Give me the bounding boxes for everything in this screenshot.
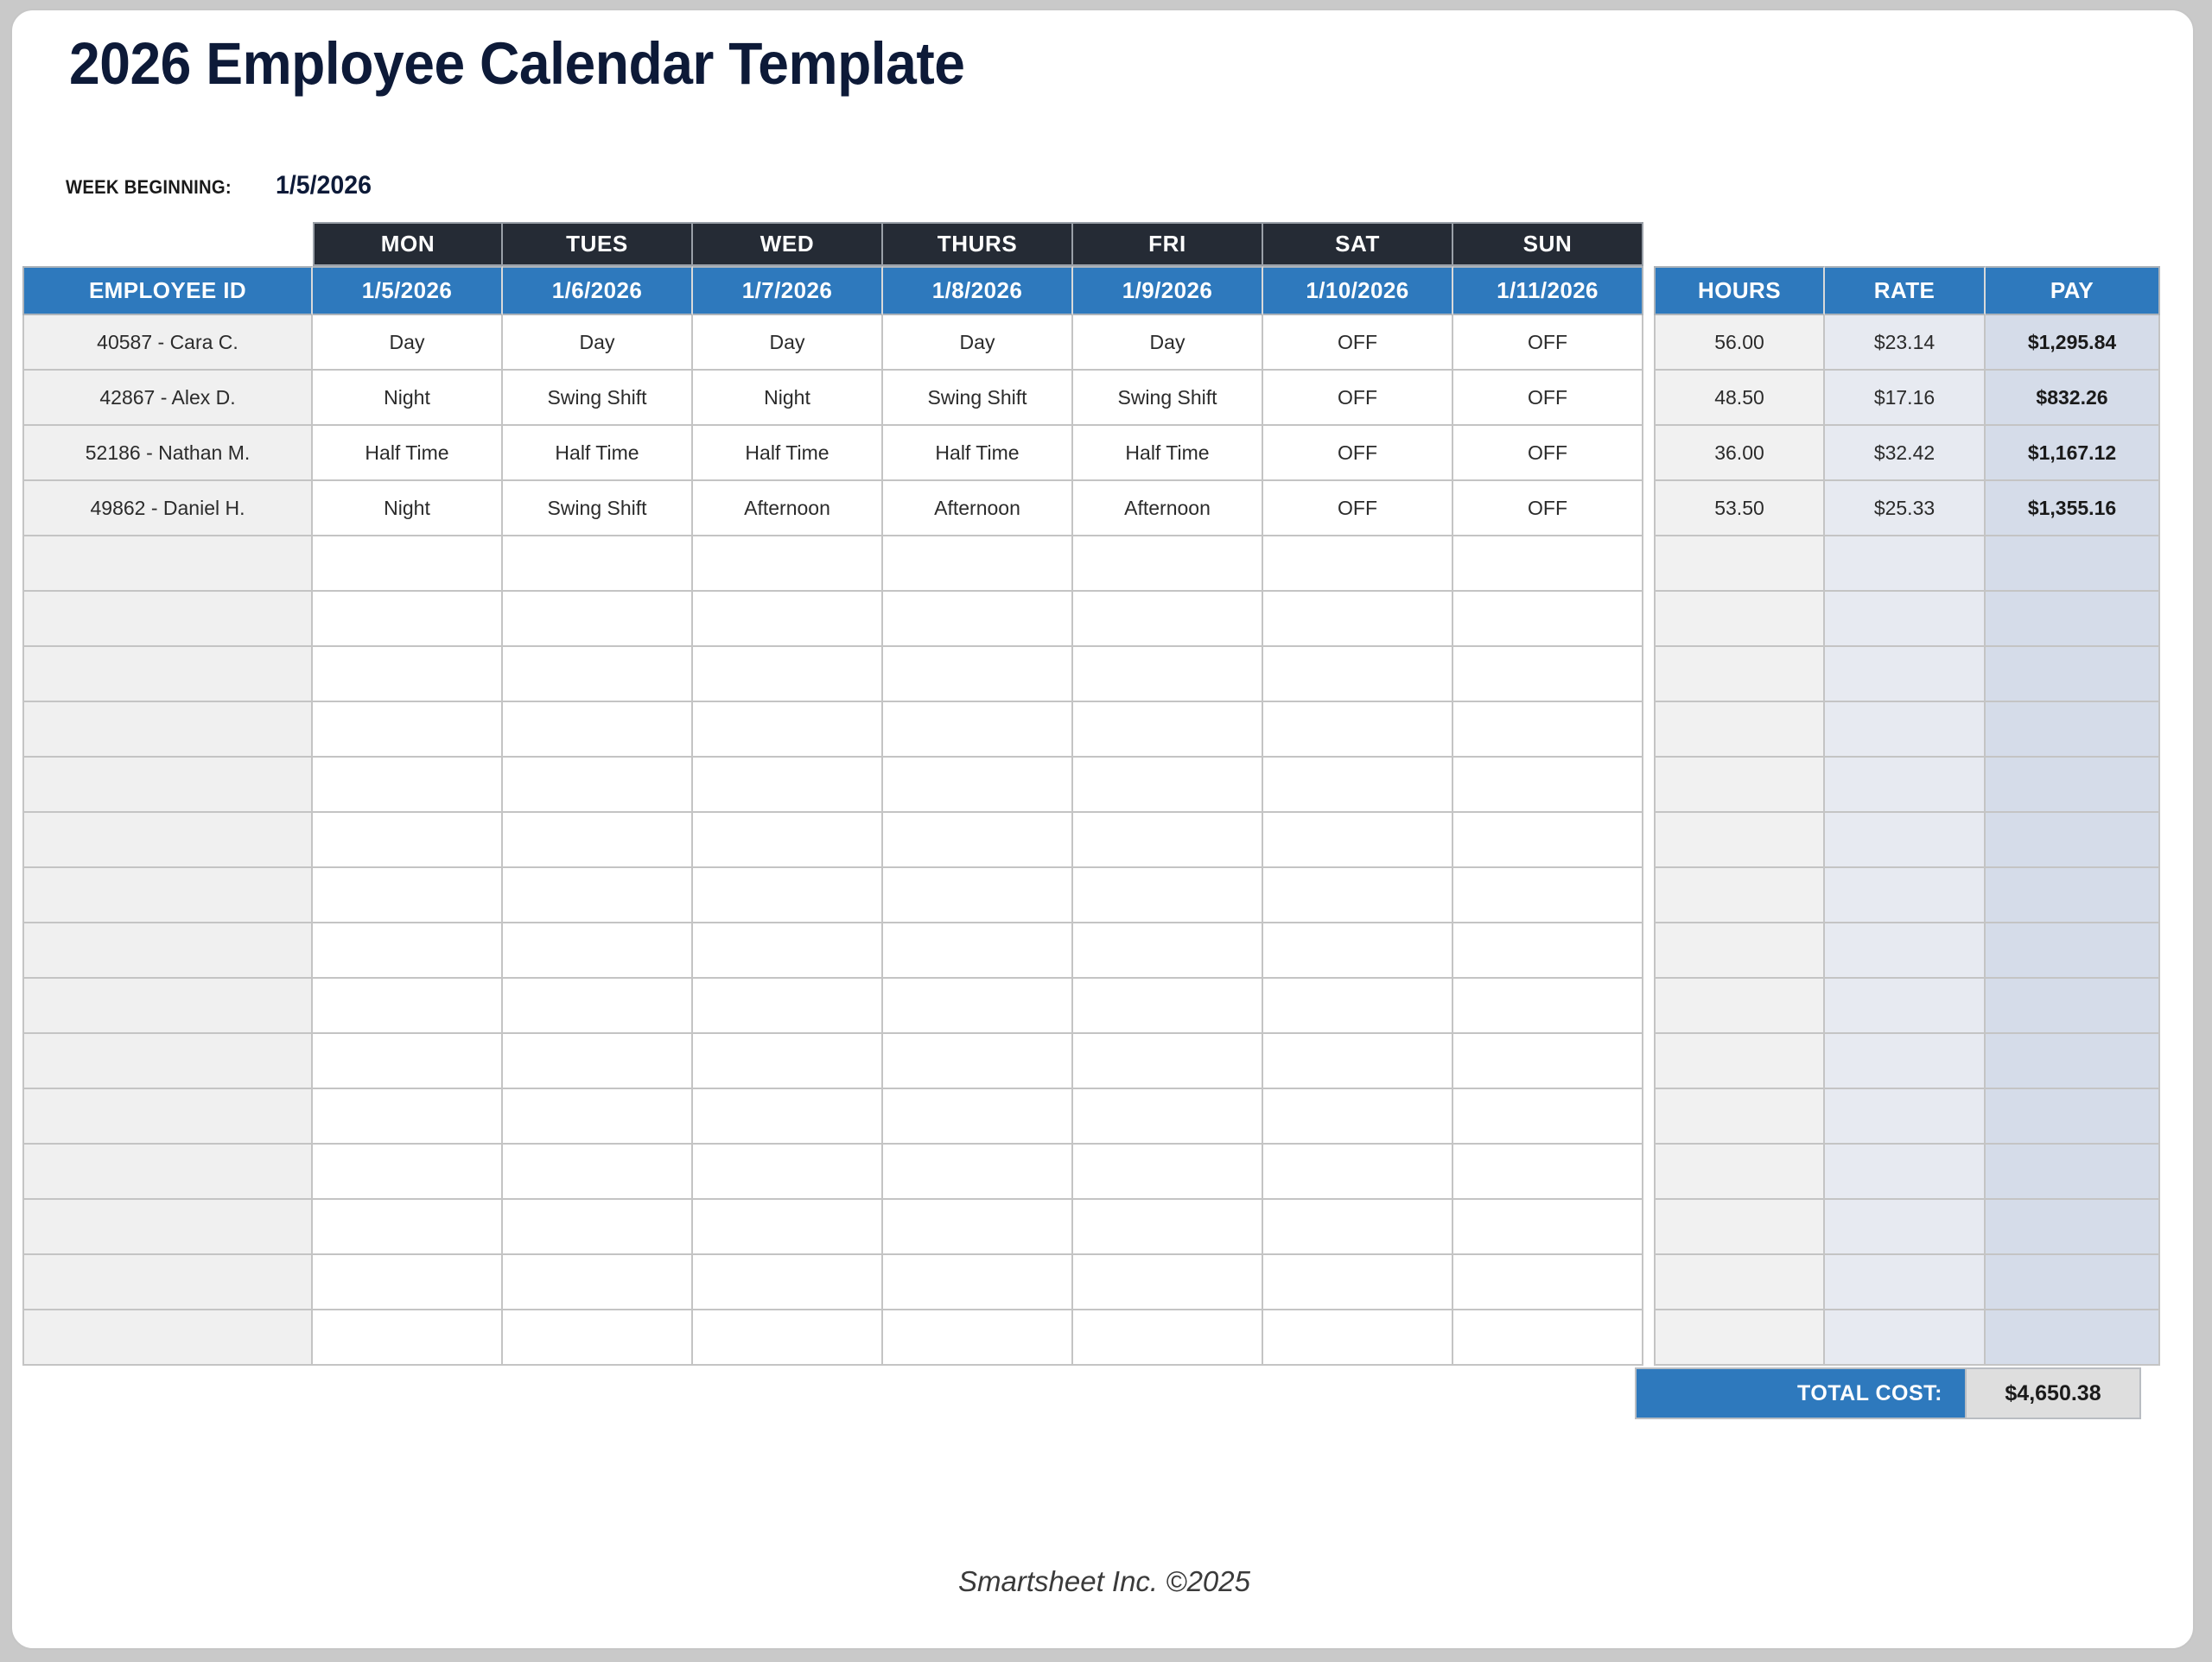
cell-shift-day-5[interactable] <box>1073 592 1263 647</box>
cell-shift-day-2[interactable] <box>503 702 693 758</box>
cell-shift-day-3[interactable]: Afternoon <box>693 481 883 536</box>
cell-shift-day-4[interactable] <box>883 1200 1073 1255</box>
cell-shift-day-1[interactable] <box>313 868 503 923</box>
cell-shift-day-5[interactable] <box>1073 1255 1263 1310</box>
cell-shift-day-5[interactable] <box>1073 1200 1263 1255</box>
cell-hours[interactable] <box>1654 592 1825 647</box>
header-date-1: 1/5/2026 <box>313 266 503 315</box>
column-header-row: EMPLOYEE ID1/5/20261/6/20261/7/20261/8/2… <box>12 266 2195 315</box>
cell-shift-day-4[interactable] <box>883 979 1073 1034</box>
cell-rate[interactable] <box>1825 868 1986 923</box>
cell-shift-day-6[interactable] <box>1263 647 1453 702</box>
cell-pay <box>1986 1089 2160 1145</box>
cell-shift-day-2[interactable]: Swing Shift <box>503 371 693 426</box>
weekday-header-mon: MON <box>313 222 503 266</box>
cell-shift-day-7[interactable] <box>1453 923 1643 979</box>
cell-shift-day-6[interactable] <box>1263 702 1453 758</box>
cell-shift-day-2[interactable]: Swing Shift <box>503 481 693 536</box>
row-left-margin <box>12 592 22 647</box>
cell-employee-id[interactable] <box>22 1310 313 1366</box>
cell-shift-day-1[interactable] <box>313 592 503 647</box>
row-column-gap <box>1643 647 1654 702</box>
cell-pay: $1,295.84 <box>1986 315 2160 371</box>
cell-shift-day-5[interactable]: Day <box>1073 315 1263 371</box>
cell-shift-day-4[interactable]: Swing Shift <box>883 371 1073 426</box>
cell-hours[interactable] <box>1654 1089 1825 1145</box>
cell-shift-day-2[interactable]: Half Time <box>503 426 693 481</box>
cell-shift-day-4[interactable] <box>883 1089 1073 1145</box>
cell-hours[interactable] <box>1654 923 1825 979</box>
cell-shift-day-7[interactable] <box>1453 647 1643 702</box>
cell-rate[interactable] <box>1825 979 1986 1034</box>
cell-shift-day-4[interactable] <box>883 813 1073 868</box>
cell-shift-day-6[interactable] <box>1263 813 1453 868</box>
cell-rate[interactable] <box>1825 923 1986 979</box>
cell-shift-day-6[interactable] <box>1263 923 1453 979</box>
row-left-margin <box>12 1310 22 1366</box>
cell-shift-day-7[interactable] <box>1453 868 1643 923</box>
cell-hours[interactable]: 53.50 <box>1654 481 1825 536</box>
cell-shift-day-2[interactable] <box>503 592 693 647</box>
cell-shift-day-7[interactable]: OFF <box>1453 426 1643 481</box>
cell-employee-id[interactable] <box>22 979 313 1034</box>
table-row <box>12 1089 2195 1145</box>
table-row <box>12 1310 2195 1366</box>
cell-shift-day-6[interactable] <box>1263 1145 1453 1200</box>
table-row <box>12 1034 2195 1089</box>
cell-shift-day-4[interactable] <box>883 702 1073 758</box>
cell-pay <box>1986 1310 2160 1366</box>
cell-pay <box>1986 923 2160 979</box>
cell-shift-day-6[interactable] <box>1263 592 1453 647</box>
table-row <box>12 1200 2195 1255</box>
table-row <box>12 868 2195 923</box>
cell-shift-day-7[interactable] <box>1453 536 1643 592</box>
row-column-gap <box>1643 426 1654 481</box>
row-column-gap <box>1643 1145 1654 1200</box>
week-beginning-value[interactable]: 1/5/2026 <box>276 171 372 200</box>
weekday-header-row: MONTUESWEDTHURSFRISATSUN <box>12 222 2195 266</box>
cell-shift-day-5[interactable]: Swing Shift <box>1073 371 1263 426</box>
table-row <box>12 536 2195 592</box>
cell-shift-day-4[interactable] <box>883 592 1073 647</box>
cell-shift-day-2[interactable] <box>503 1145 693 1200</box>
cell-shift-day-3[interactable] <box>693 1200 883 1255</box>
cell-shift-day-6[interactable]: OFF <box>1263 426 1453 481</box>
cell-shift-day-4[interactable] <box>883 868 1073 923</box>
cell-rate[interactable] <box>1825 647 1986 702</box>
header-column-gap <box>1643 266 1654 315</box>
row-left-margin <box>12 481 22 536</box>
cell-hours[interactable] <box>1654 702 1825 758</box>
weekday-header-wed: WED <box>693 222 883 266</box>
row-column-gap <box>1643 1089 1654 1145</box>
header-hours: HOURS <box>1654 266 1825 315</box>
cell-pay <box>1986 592 2160 647</box>
cell-shift-day-7[interactable]: OFF <box>1453 371 1643 426</box>
row-left-margin <box>12 1145 22 1200</box>
cell-shift-day-1[interactable] <box>313 1200 503 1255</box>
cell-shift-day-5[interactable] <box>1073 1034 1263 1089</box>
cell-shift-day-2[interactable] <box>503 1089 693 1145</box>
cell-shift-day-3[interactable] <box>693 758 883 813</box>
cell-rate[interactable] <box>1825 592 1986 647</box>
row-column-gap <box>1643 1310 1654 1366</box>
cell-shift-day-3[interactable] <box>693 1089 883 1145</box>
cell-shift-day-2[interactable] <box>503 813 693 868</box>
cell-shift-day-2[interactable] <box>503 923 693 979</box>
footer-copyright: Smartsheet Inc. ©2025 <box>12 1565 2195 1598</box>
cell-shift-day-7[interactable]: OFF <box>1453 481 1643 536</box>
row-left-margin <box>12 536 22 592</box>
cell-shift-day-2[interactable]: Day <box>503 315 693 371</box>
cell-shift-day-5[interactable] <box>1073 702 1263 758</box>
row-column-gap <box>1643 979 1654 1034</box>
cell-shift-day-4[interactable] <box>883 1310 1073 1366</box>
cell-rate[interactable] <box>1825 1255 1986 1310</box>
cell-rate[interactable] <box>1825 536 1986 592</box>
header-date-7: 1/11/2026 <box>1453 266 1643 315</box>
cell-employee-id[interactable] <box>22 1089 313 1145</box>
cell-shift-day-7[interactable] <box>1453 1310 1643 1366</box>
cell-shift-day-6[interactable] <box>1263 868 1453 923</box>
cell-pay <box>1986 758 2160 813</box>
cell-pay <box>1986 868 2160 923</box>
cell-shift-day-1[interactable] <box>313 1310 503 1366</box>
row-column-gap <box>1643 868 1654 923</box>
cell-shift-day-1[interactable] <box>313 1255 503 1310</box>
total-cost-row: TOTAL COST:$4,650.38 <box>12 1367 2195 1419</box>
row-left-margin <box>12 923 22 979</box>
cell-shift-day-5[interactable] <box>1073 1310 1263 1366</box>
weekday-header-sat: SAT <box>1263 222 1453 266</box>
cell-shift-day-6[interactable] <box>1263 1034 1453 1089</box>
row-column-gap <box>1643 315 1654 371</box>
header-date-2: 1/6/2026 <box>503 266 693 315</box>
cell-employee-id[interactable]: 42867 - Alex D. <box>22 371 313 426</box>
header-date-6: 1/10/2026 <box>1263 266 1453 315</box>
table-row: 49862 - Daniel H.NightSwing ShiftAfterno… <box>12 481 2195 536</box>
cell-shift-day-6[interactable] <box>1263 979 1453 1034</box>
cell-shift-day-2[interactable] <box>503 536 693 592</box>
cell-shift-day-5[interactable] <box>1073 536 1263 592</box>
cell-shift-day-2[interactable] <box>503 1310 693 1366</box>
cell-shift-day-7[interactable] <box>1453 758 1643 813</box>
cell-shift-day-2[interactable] <box>503 979 693 1034</box>
cell-employee-id[interactable] <box>22 536 313 592</box>
cell-shift-day-6[interactable] <box>1263 536 1453 592</box>
row-left-margin <box>12 868 22 923</box>
cell-shift-day-3[interactable] <box>693 702 883 758</box>
cell-pay <box>1986 1200 2160 1255</box>
header-left-margin <box>12 266 22 315</box>
cell-employee-id[interactable] <box>22 758 313 813</box>
cell-shift-day-4[interactable]: Half Time <box>883 426 1073 481</box>
cell-shift-day-5[interactable] <box>1073 979 1263 1034</box>
cell-shift-day-1[interactable] <box>313 813 503 868</box>
cell-shift-day-6[interactable]: OFF <box>1263 481 1453 536</box>
template-page: 2026 Employee Calendar Template WEEK BEG… <box>10 9 2195 1650</box>
cell-hours[interactable]: 56.00 <box>1654 315 1825 371</box>
cell-employee-id[interactable]: 40587 - Cara C. <box>22 315 313 371</box>
header-pay: PAY <box>1986 266 2160 315</box>
row-left-margin <box>12 813 22 868</box>
cell-hours[interactable] <box>1654 758 1825 813</box>
header-rate: RATE <box>1825 266 1986 315</box>
cell-rate[interactable] <box>1825 1089 1986 1145</box>
cell-shift-day-3[interactable] <box>693 979 883 1034</box>
cell-employee-id[interactable] <box>22 1255 313 1310</box>
row-column-gap <box>1643 536 1654 592</box>
row-column-gap <box>1643 592 1654 647</box>
cell-shift-day-5[interactable] <box>1073 758 1263 813</box>
table-row: 42867 - Alex D.NightSwing ShiftNightSwin… <box>12 371 2195 426</box>
row-left-margin <box>12 315 22 371</box>
cell-employee-id[interactable]: 52186 - Nathan M. <box>22 426 313 481</box>
cell-hours[interactable]: 36.00 <box>1654 426 1825 481</box>
cell-shift-day-6[interactable] <box>1263 758 1453 813</box>
cell-shift-day-4[interactable]: Day <box>883 315 1073 371</box>
row-left-margin <box>12 979 22 1034</box>
table-row <box>12 1255 2195 1310</box>
cell-shift-day-6[interactable] <box>1263 1255 1453 1310</box>
cell-shift-day-7[interactable] <box>1453 979 1643 1034</box>
cell-rate[interactable] <box>1825 1145 1986 1200</box>
total-cost-label: TOTAL COST: <box>1635 1367 1967 1419</box>
row-left-margin <box>12 1200 22 1255</box>
cell-shift-day-3[interactable] <box>693 536 883 592</box>
page-title: 2026 Employee Calendar Template <box>69 29 965 98</box>
table-row <box>12 592 2195 647</box>
cell-shift-day-5[interactable]: Half Time <box>1073 426 1263 481</box>
cell-rate[interactable] <box>1825 813 1986 868</box>
cell-shift-day-3[interactable] <box>693 868 883 923</box>
cell-shift-day-1[interactable] <box>313 1145 503 1200</box>
cell-shift-day-7[interactable]: OFF <box>1453 315 1643 371</box>
total-row-spacer <box>12 1367 1635 1419</box>
cell-hours[interactable]: 48.50 <box>1654 371 1825 426</box>
cell-rate[interactable] <box>1825 1200 1986 1255</box>
cell-shift-day-2[interactable] <box>503 1200 693 1255</box>
cell-rate[interactable]: $25.33 <box>1825 481 1986 536</box>
row-left-margin <box>12 371 22 426</box>
cell-shift-day-1[interactable] <box>313 647 503 702</box>
row-left-margin <box>12 1255 22 1310</box>
cell-shift-day-5[interactable] <box>1073 813 1263 868</box>
cell-rate[interactable]: $23.14 <box>1825 315 1986 371</box>
cell-shift-day-6[interactable] <box>1263 1089 1453 1145</box>
table-row <box>12 647 2195 702</box>
cell-employee-id[interactable] <box>22 923 313 979</box>
cell-shift-day-1[interactable]: Night <box>313 371 503 426</box>
cell-shift-day-4[interactable] <box>883 758 1073 813</box>
cell-shift-day-2[interactable] <box>503 1255 693 1310</box>
cell-shift-day-2[interactable] <box>503 758 693 813</box>
cell-rate[interactable]: $32.42 <box>1825 426 1986 481</box>
cell-shift-day-3[interactable]: Day <box>693 315 883 371</box>
cell-pay <box>1986 1034 2160 1089</box>
cell-shift-day-7[interactable] <box>1453 592 1643 647</box>
cell-shift-day-1[interactable]: Half Time <box>313 426 503 481</box>
cell-shift-day-2[interactable] <box>503 1034 693 1089</box>
cell-shift-day-7[interactable] <box>1453 1145 1643 1200</box>
cell-pay <box>1986 1255 2160 1310</box>
cell-shift-day-5[interactable]: Afternoon <box>1073 481 1263 536</box>
row-left-margin <box>12 702 22 758</box>
cell-shift-day-3[interactable] <box>693 1310 883 1366</box>
cell-shift-day-6[interactable]: OFF <box>1263 371 1453 426</box>
cell-shift-day-5[interactable] <box>1073 923 1263 979</box>
cell-hours[interactable] <box>1654 1145 1825 1200</box>
cell-rate[interactable]: $17.16 <box>1825 371 1986 426</box>
cell-shift-day-1[interactable] <box>313 1089 503 1145</box>
cell-shift-day-3[interactable] <box>693 592 883 647</box>
cell-shift-day-3[interactable] <box>693 1034 883 1089</box>
cell-shift-day-3[interactable] <box>693 1145 883 1200</box>
cell-shift-day-7[interactable] <box>1453 813 1643 868</box>
cell-shift-day-4[interactable] <box>883 536 1073 592</box>
cell-shift-day-4[interactable] <box>883 1145 1073 1200</box>
cell-shift-day-7[interactable] <box>1453 1200 1643 1255</box>
cell-shift-day-1[interactable]: Night <box>313 481 503 536</box>
row-column-gap <box>1643 1200 1654 1255</box>
header-employee-id: EMPLOYEE ID <box>22 266 313 315</box>
header-date-3: 1/7/2026 <box>693 266 883 315</box>
table-row <box>12 813 2195 868</box>
weekday-header-sun: SUN <box>1453 222 1643 266</box>
cell-rate[interactable] <box>1825 758 1986 813</box>
cell-employee-id[interactable] <box>22 868 313 923</box>
cell-shift-day-1[interactable]: Day <box>313 315 503 371</box>
cell-shift-day-2[interactable] <box>503 647 693 702</box>
cell-pay <box>1986 979 2160 1034</box>
row-left-margin <box>12 647 22 702</box>
weekday-header-spacer <box>12 222 313 266</box>
row-column-gap <box>1643 758 1654 813</box>
cell-employee-id[interactable]: 49862 - Daniel H. <box>22 481 313 536</box>
cell-shift-day-1[interactable] <box>313 702 503 758</box>
cell-employee-id[interactable] <box>22 647 313 702</box>
cell-employee-id[interactable] <box>22 1145 313 1200</box>
cell-pay: $1,355.16 <box>1986 481 2160 536</box>
cell-shift-day-7[interactable] <box>1453 1089 1643 1145</box>
table-row <box>12 979 2195 1034</box>
table-row <box>12 702 2195 758</box>
cell-pay <box>1986 536 2160 592</box>
row-column-gap <box>1643 371 1654 426</box>
cell-hours[interactable] <box>1654 979 1825 1034</box>
cell-shift-day-5[interactable] <box>1073 647 1263 702</box>
weekday-header-thurs: THURS <box>883 222 1073 266</box>
cell-shift-day-1[interactable] <box>313 1034 503 1089</box>
cell-employee-id[interactable] <box>22 1034 313 1089</box>
cell-shift-day-4[interactable]: Afternoon <box>883 481 1073 536</box>
cell-shift-day-6[interactable] <box>1263 1310 1453 1366</box>
row-column-gap <box>1643 1034 1654 1089</box>
cell-pay <box>1986 702 2160 758</box>
row-left-margin <box>12 426 22 481</box>
table-row <box>12 923 2195 979</box>
cell-shift-day-7[interactable] <box>1453 1034 1643 1089</box>
weekday-header-fri: FRI <box>1073 222 1263 266</box>
cell-pay <box>1986 1145 2160 1200</box>
cell-pay <box>1986 647 2160 702</box>
cell-shift-day-4[interactable] <box>883 1255 1073 1310</box>
weekday-header-tues: TUES <box>503 222 693 266</box>
cell-shift-day-7[interactable] <box>1453 702 1643 758</box>
cell-hours[interactable] <box>1654 1034 1825 1089</box>
schedule-table: MONTUESWEDTHURSFRISATSUNEMPLOYEE ID1/5/2… <box>12 222 2195 1419</box>
row-column-gap <box>1643 813 1654 868</box>
header-date-5: 1/9/2026 <box>1073 266 1263 315</box>
cell-shift-day-1[interactable] <box>313 536 503 592</box>
row-left-margin <box>12 1089 22 1145</box>
cell-shift-day-5[interactable] <box>1073 1145 1263 1200</box>
cell-shift-day-3[interactable] <box>693 813 883 868</box>
cell-hours[interactable] <box>1654 647 1825 702</box>
cell-shift-day-5[interactable] <box>1073 868 1263 923</box>
cell-shift-day-6[interactable] <box>1263 1200 1453 1255</box>
cell-hours[interactable] <box>1654 1255 1825 1310</box>
cell-employee-id[interactable] <box>22 813 313 868</box>
table-row <box>12 758 2195 813</box>
cell-rate[interactable] <box>1825 1310 1986 1366</box>
cell-pay <box>1986 813 2160 868</box>
cell-hours[interactable] <box>1654 813 1825 868</box>
cell-shift-day-3[interactable] <box>693 1255 883 1310</box>
cell-shift-day-4[interactable] <box>883 923 1073 979</box>
row-column-gap <box>1643 702 1654 758</box>
row-left-margin <box>12 758 22 813</box>
cell-shift-day-3[interactable]: Night <box>693 371 883 426</box>
cell-shift-day-1[interactable] <box>313 758 503 813</box>
cell-shift-day-7[interactable] <box>1453 1255 1643 1310</box>
cell-shift-day-6[interactable]: OFF <box>1263 315 1453 371</box>
cell-shift-day-4[interactable] <box>883 1034 1073 1089</box>
table-row: 52186 - Nathan M.Half TimeHalf TimeHalf … <box>12 426 2195 481</box>
row-column-gap <box>1643 923 1654 979</box>
cell-shift-day-1[interactable] <box>313 923 503 979</box>
cell-pay: $832.26 <box>1986 371 2160 426</box>
table-row: 40587 - Cara C.DayDayDayDayDayOFFOFF56.0… <box>12 315 2195 371</box>
cell-rate[interactable] <box>1825 1034 1986 1089</box>
cell-pay: $1,167.12 <box>1986 426 2160 481</box>
cell-shift-day-3[interactable]: Half Time <box>693 426 883 481</box>
cell-hours[interactable] <box>1654 1310 1825 1366</box>
cell-shift-day-1[interactable] <box>313 979 503 1034</box>
cell-shift-day-5[interactable] <box>1073 1089 1263 1145</box>
cell-hours[interactable] <box>1654 1200 1825 1255</box>
total-cost-value: $4,650.38 <box>1967 1367 2141 1419</box>
row-column-gap <box>1643 481 1654 536</box>
cell-shift-day-3[interactable] <box>693 923 883 979</box>
cell-employee-id[interactable] <box>22 1200 313 1255</box>
cell-shift-day-3[interactable] <box>693 647 883 702</box>
table-row <box>12 1145 2195 1200</box>
cell-rate[interactable] <box>1825 702 1986 758</box>
cell-hours[interactable] <box>1654 536 1825 592</box>
week-beginning-field: WEEK BEGINNING: 1/5/2026 <box>66 171 376 200</box>
cell-shift-day-4[interactable] <box>883 647 1073 702</box>
cell-hours[interactable] <box>1654 868 1825 923</box>
week-beginning-label: WEEK BEGINNING: <box>66 176 232 199</box>
header-date-4: 1/8/2026 <box>883 266 1073 315</box>
row-left-margin <box>12 1034 22 1089</box>
row-column-gap <box>1643 1255 1654 1310</box>
cell-employee-id[interactable] <box>22 592 313 647</box>
cell-employee-id[interactable] <box>22 702 313 758</box>
cell-shift-day-2[interactable] <box>503 868 693 923</box>
